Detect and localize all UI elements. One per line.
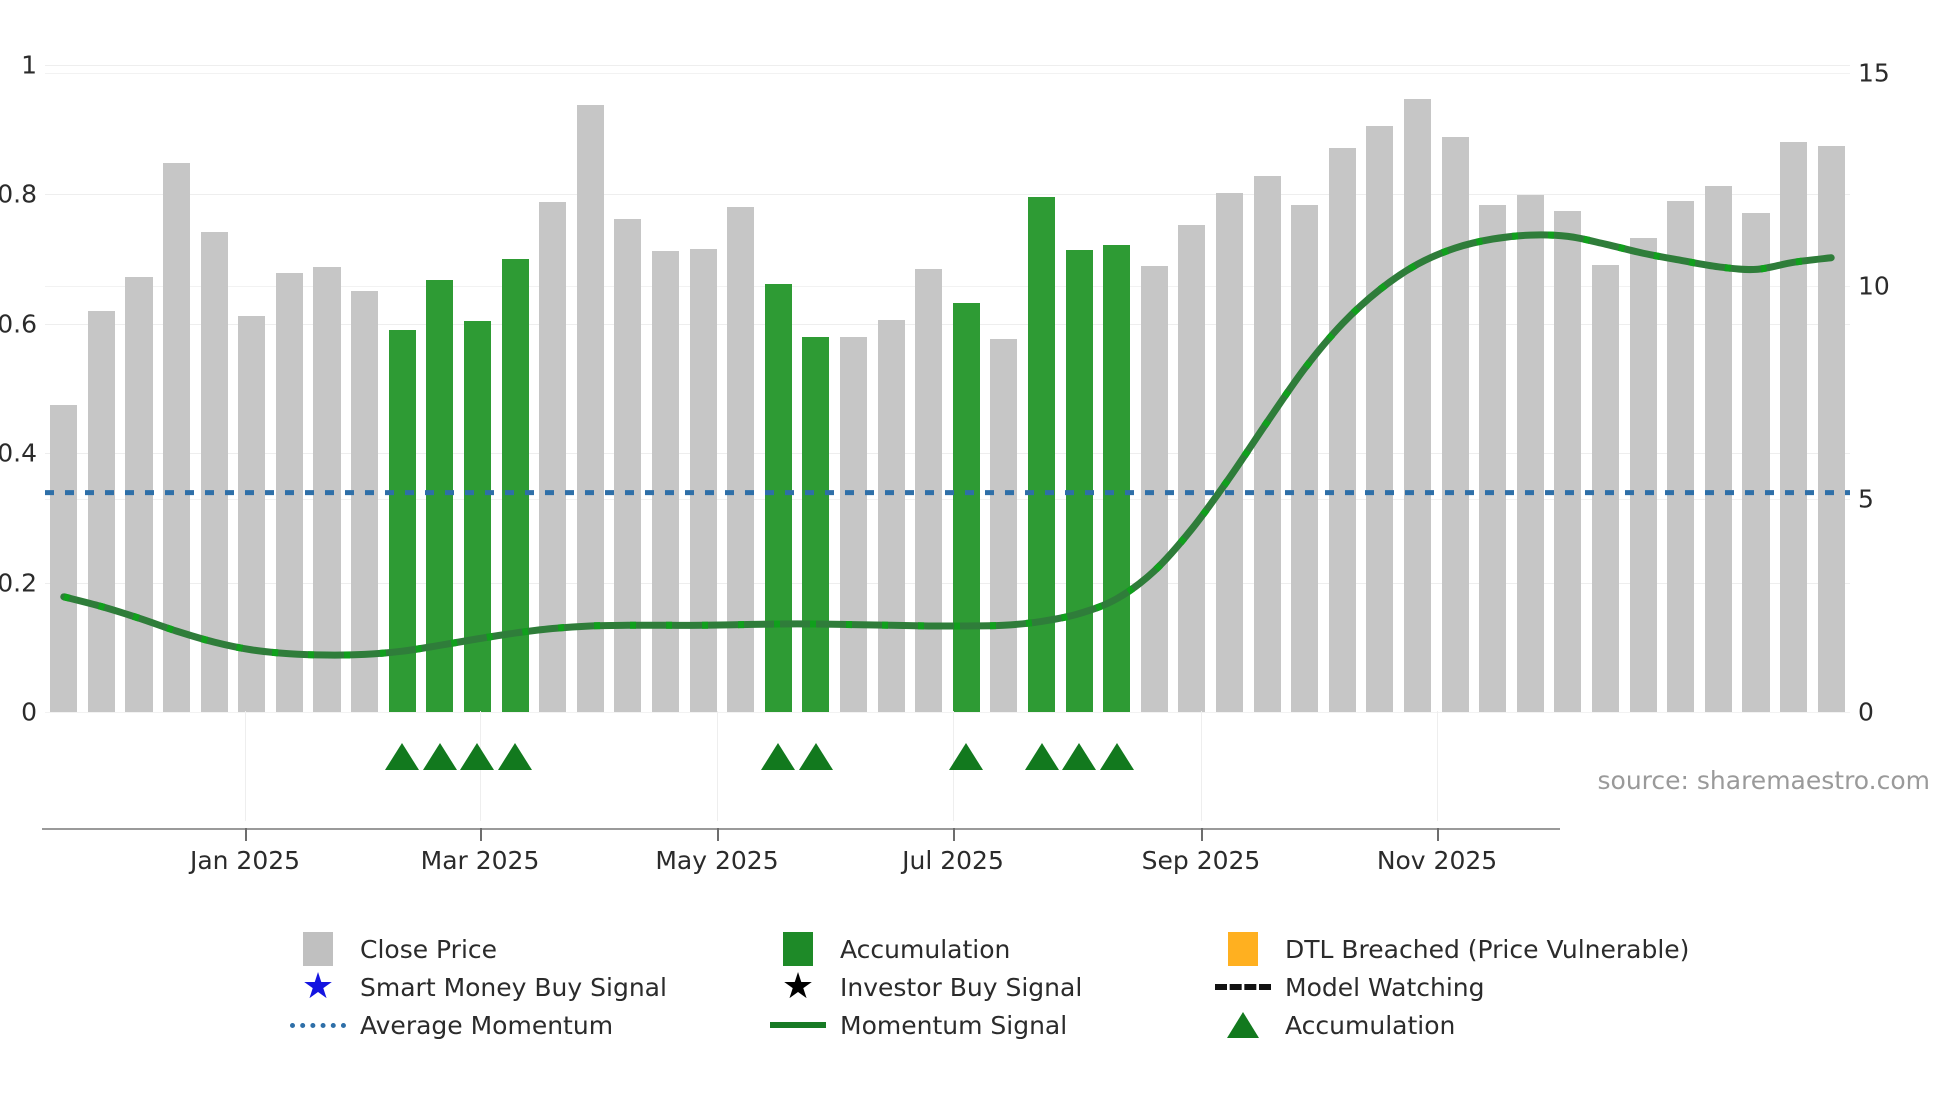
triangle-icon: [1227, 1012, 1259, 1038]
y-axis-left-label: 0.2: [0, 568, 37, 597]
accumulation-triangle-marker: [799, 743, 833, 770]
bar-close-price: [1178, 225, 1205, 712]
bar-close-price: [1554, 211, 1581, 712]
bar-close-price: [88, 311, 115, 712]
legend-item-label: Accumulation: [840, 935, 1010, 964]
y-axis-right-label: 0: [1858, 698, 1928, 727]
y-axis-left-label: 0.4: [0, 439, 37, 468]
legend-item-accumulation-marker[interactable]: Accumulation: [1215, 1006, 1690, 1044]
bar-close-price: [163, 163, 190, 712]
accumulation-triangle-marker: [1062, 743, 1096, 770]
bar-close-price: [1404, 99, 1431, 712]
month-separator: [245, 711, 246, 821]
bar-close-price: [1667, 201, 1694, 712]
accumulation-triangle-marker: [460, 743, 494, 770]
legend-item-average-momentum[interactable]: Average Momentum: [290, 1006, 770, 1044]
source-note: source: sharemaestro.com: [1598, 766, 1931, 795]
accumulation-triangle-marker: [423, 743, 457, 770]
bar-close-price: [915, 269, 942, 712]
star-icon: ★: [302, 969, 334, 1005]
bar-close-price: [1291, 205, 1318, 712]
chart-legend: Close PriceAccumulationDTL Breached (Pri…: [290, 930, 1690, 1044]
accumulation-triangle-marker: [1025, 743, 1059, 770]
x-axis-tick-label: Sep 2025: [1142, 846, 1261, 875]
y-axis-right-label: 10: [1858, 272, 1928, 301]
gridline: [45, 712, 1850, 713]
accumulation-triangle-marker: [1100, 743, 1134, 770]
bar-close-price: [727, 207, 754, 712]
bar-close-price: [201, 232, 228, 712]
bar-close-price: [878, 320, 905, 712]
legend-item-investor-buy[interactable]: ★Investor Buy Signal: [770, 968, 1215, 1006]
bar-close-price: [1705, 186, 1732, 712]
y-axis-left-label: 0.8: [0, 180, 37, 209]
bars-layer: [45, 52, 1850, 712]
y-axis-left-label: 1: [0, 50, 37, 79]
square-swatch-icon: [303, 932, 333, 966]
solid-line-icon: [770, 1022, 826, 1028]
dashed-line-icon-wrap: [1215, 970, 1271, 1004]
legend-item-model-watching[interactable]: Model Watching: [1215, 968, 1690, 1006]
dotted-line-icon: [290, 1023, 346, 1028]
star-icon-wrap: ★: [770, 970, 826, 1004]
bar-accumulation: [953, 303, 980, 712]
solid-line-icon-wrap: [770, 1008, 826, 1042]
bar-close-price: [990, 339, 1017, 712]
x-axis-tick-label: Nov 2025: [1377, 846, 1497, 875]
legend-item-label: Investor Buy Signal: [840, 973, 1082, 1002]
bar-close-price: [690, 249, 717, 712]
bar-close-price: [1141, 266, 1168, 712]
plot-area: [45, 52, 1850, 712]
bar-close-price: [1329, 148, 1356, 712]
bar-close-price: [50, 405, 77, 712]
y-axis-left-label: 0: [0, 698, 37, 727]
bar-accumulation: [802, 337, 829, 712]
bar-close-price: [1366, 126, 1393, 712]
bar-close-price: [125, 277, 152, 712]
y-axis-right-label: 5: [1858, 485, 1928, 514]
star-icon-wrap: ★: [290, 970, 346, 1004]
month-separator: [717, 711, 718, 821]
legend-item-label: Smart Money Buy Signal: [360, 973, 667, 1002]
x-axis-tick: [953, 828, 955, 841]
x-axis-tick: [1437, 828, 1439, 841]
square-swatch-icon-wrap: [1215, 932, 1271, 966]
bar-close-price: [1780, 142, 1807, 712]
bar-accumulation: [502, 259, 529, 712]
bar-accumulation: [765, 284, 792, 712]
bar-close-price: [1216, 193, 1243, 712]
bar-accumulation: [426, 280, 453, 712]
bar-close-price: [313, 267, 340, 712]
legend-item-momentum-signal[interactable]: Momentum Signal: [770, 1006, 1215, 1044]
bar-accumulation: [1066, 250, 1093, 712]
legend-item-accumulation-bar[interactable]: Accumulation: [770, 930, 1215, 968]
bar-close-price: [1254, 176, 1281, 712]
bar-close-price: [577, 105, 604, 712]
bar-accumulation: [1028, 197, 1055, 712]
legend-item-label: Momentum Signal: [840, 1011, 1067, 1040]
square-swatch-icon-wrap: [290, 932, 346, 966]
bar-accumulation: [389, 330, 416, 712]
bar-close-price: [276, 273, 303, 712]
bar-close-price: [1742, 213, 1769, 712]
triangle-icon-wrap: [1215, 1008, 1271, 1042]
x-axis-tick-label: Jan 2025: [190, 846, 300, 875]
legend-item-label: Close Price: [360, 935, 497, 964]
bar-close-price: [1592, 265, 1619, 712]
x-axis-tick: [1201, 828, 1203, 841]
bar-close-price: [1442, 137, 1469, 712]
x-axis-tick: [245, 828, 247, 841]
bar-close-price: [840, 337, 867, 712]
bar-close-price: [652, 251, 679, 712]
plot-inner: [45, 52, 1850, 712]
y-axis-left-label: 0.6: [0, 309, 37, 338]
bar-accumulation: [1103, 245, 1130, 712]
legend-item-label: Accumulation: [1285, 1011, 1455, 1040]
bar-close-price: [1517, 195, 1544, 712]
x-axis-tick-label: Mar 2025: [421, 846, 540, 875]
dotted-line-icon-wrap: [290, 1008, 346, 1042]
legend-item-close-price[interactable]: Close Price: [290, 930, 770, 968]
x-axis-tick-label: Jul 2025: [902, 846, 1004, 875]
x-axis-line: [42, 828, 1560, 830]
month-separator: [1437, 711, 1438, 821]
accumulation-triangle-marker: [385, 743, 419, 770]
bar-close-price: [1479, 205, 1506, 712]
legend-item-label: Model Watching: [1285, 973, 1485, 1002]
bar-close-price: [614, 219, 641, 712]
legend-item-label: Average Momentum: [360, 1011, 613, 1040]
accumulation-triangle-marker: [498, 743, 532, 770]
bar-close-price: [351, 291, 378, 712]
square-swatch-icon-wrap: [770, 932, 826, 966]
chart-root: 00.20.40.60.81 051015 source: sharemaest…: [0, 0, 1960, 1102]
star-icon: ★: [782, 969, 814, 1005]
accumulation-triangle-marker: [761, 743, 795, 770]
y-axis-right-label: 15: [1858, 59, 1928, 88]
x-axis-tick: [717, 828, 719, 841]
bar-close-price: [1630, 238, 1657, 712]
bar-close-price: [1818, 146, 1845, 712]
dashed-line-icon: [1215, 984, 1271, 990]
square-swatch-icon: [783, 932, 813, 966]
bar-close-price: [238, 316, 265, 712]
square-swatch-icon: [1228, 932, 1258, 966]
bar-accumulation: [464, 321, 491, 712]
legend-item-label: DTL Breached (Price Vulnerable): [1285, 935, 1689, 964]
bar-close-price: [539, 202, 566, 712]
legend-item-dtl-breached[interactable]: DTL Breached (Price Vulnerable): [1215, 930, 1690, 968]
accumulation-triangle-marker: [949, 743, 983, 770]
x-axis-tick: [480, 828, 482, 841]
month-separator: [1201, 711, 1202, 821]
x-axis-tick-label: May 2025: [655, 846, 778, 875]
legend-item-smart-money-buy[interactable]: ★Smart Money Buy Signal: [290, 968, 770, 1006]
accumulation-marker-band: [45, 716, 1850, 806]
